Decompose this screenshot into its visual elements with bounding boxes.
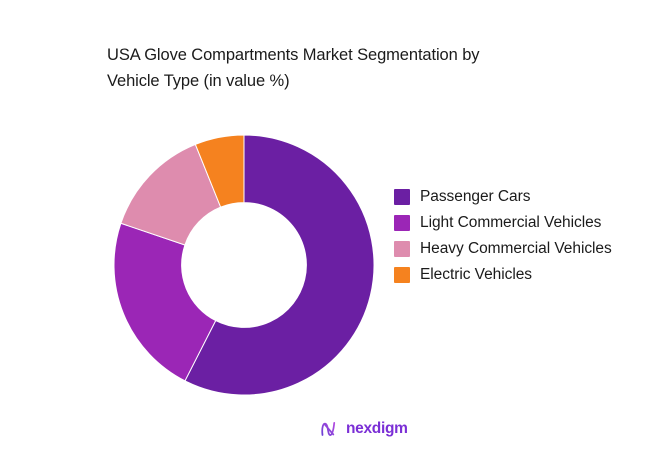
donut-chart [113,134,375,396]
legend-item-electric-vehicles[interactable]: Electric Vehicles [394,263,644,287]
legend-item-label: Light Commercial Vehicles [420,211,601,235]
nexdigm-wave-logo-icon [319,419,339,439]
chart-page: USA Glove Compartments Market Segmentati… [0,0,665,451]
legend-item-passenger-cars[interactable]: Passenger Cars [394,185,644,209]
chart-legend: Passenger Cars Light Commercial Vehicles… [394,185,644,289]
legend-swatch-icon [394,189,410,205]
legend-item-label: Electric Vehicles [420,263,532,287]
page-title: USA Glove Compartments Market Segmentati… [107,42,607,94]
legend-swatch-icon [394,241,410,257]
legend-item-heavy-commercial-vehicles[interactable]: Heavy Commercial Vehicles [394,237,644,261]
brand-name: nexdigm [346,419,408,439]
donut-slice-group [114,135,374,395]
donut-chart-svg [113,134,375,396]
legend-item-light-commercial-vehicles[interactable]: Light Commercial Vehicles [394,211,644,235]
legend-item-label: Heavy Commercial Vehicles [420,237,612,261]
legend-swatch-icon [394,267,410,283]
brand-footer[interactable]: nexdigm [319,419,408,439]
legend-swatch-icon [394,215,410,231]
legend-item-label: Passenger Cars [420,185,530,209]
